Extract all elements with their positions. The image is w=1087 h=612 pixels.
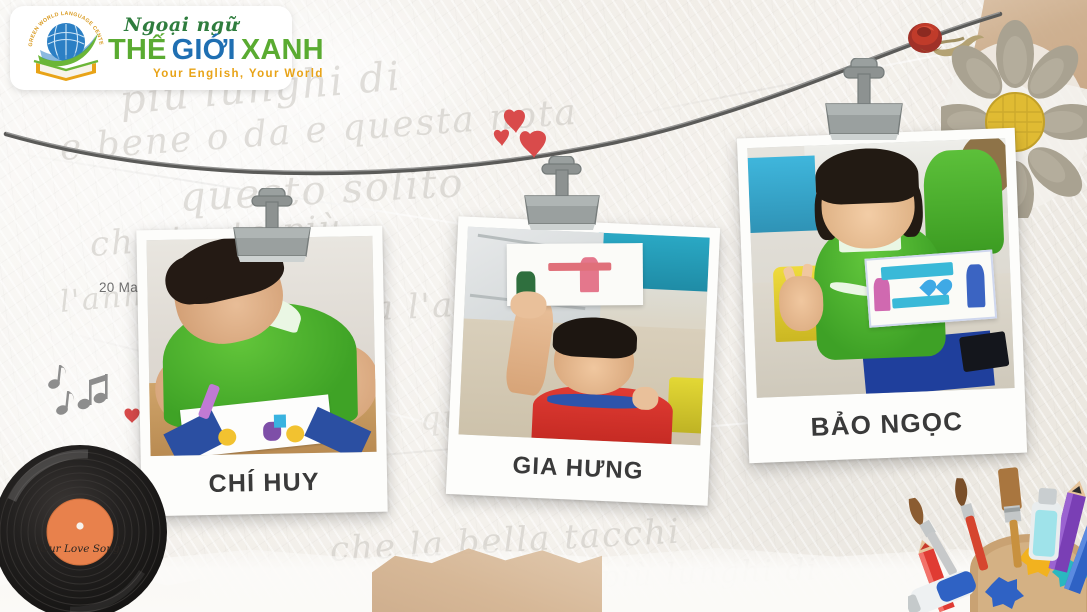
logo-word-1: THẾ [108, 36, 167, 65]
music-notes-icon [44, 360, 122, 422]
logo-main-title: THẾ GIỚI XANH [108, 36, 324, 65]
vinyl-record-icon: "Our Love Song" [0, 444, 168, 612]
brand-logo-card[interactable]: GREEN WORLD LANGUAGE CENTER [10, 6, 292, 90]
photo-image-giahung [459, 227, 710, 446]
photo-caption-baongoc: BẢO NGỌC [757, 388, 1017, 460]
art-supplies-icon [908, 452, 1087, 612]
brand-logo-text: Ngoại ngữ THẾ GIỚI XANH Your English, Yo… [108, 16, 324, 81]
vinyl-label-text: "Our Love Song" [35, 543, 124, 555]
photo-card-giahung[interactable]: GIA HƯNG [446, 216, 720, 506]
photo-image-baongoc [747, 138, 1014, 398]
photo-caption-giahung: GIA HƯNG [456, 434, 700, 503]
photo-caption-chihuy: CHÍ HUY [151, 452, 378, 514]
collage-canvas: più lunghi di e bene o da e questa nota … [0, 0, 1087, 612]
globe-book-logo-icon: GREEN WORLD LANGUAGE CENTER [26, 11, 106, 85]
photo-card-chihuy[interactable]: CHÍ HUY [136, 226, 387, 517]
photo-image-chihuy [146, 236, 376, 456]
heart-small-icon [123, 406, 141, 424]
logo-tagline: Your English, Your World [108, 69, 324, 81]
binder-clip-baongoc[interactable] [818, 58, 910, 144]
logo-script-line: Ngoại ngữ [124, 16, 324, 35]
hearts-doodle-icon [492, 108, 554, 162]
kraft-paper-bottom [372, 530, 602, 612]
logo-word-3: XANH [241, 36, 324, 65]
photo-card-baongoc[interactable]: BẢO NGỌC [737, 128, 1027, 463]
logo-word-2: GIỚI [172, 36, 236, 65]
